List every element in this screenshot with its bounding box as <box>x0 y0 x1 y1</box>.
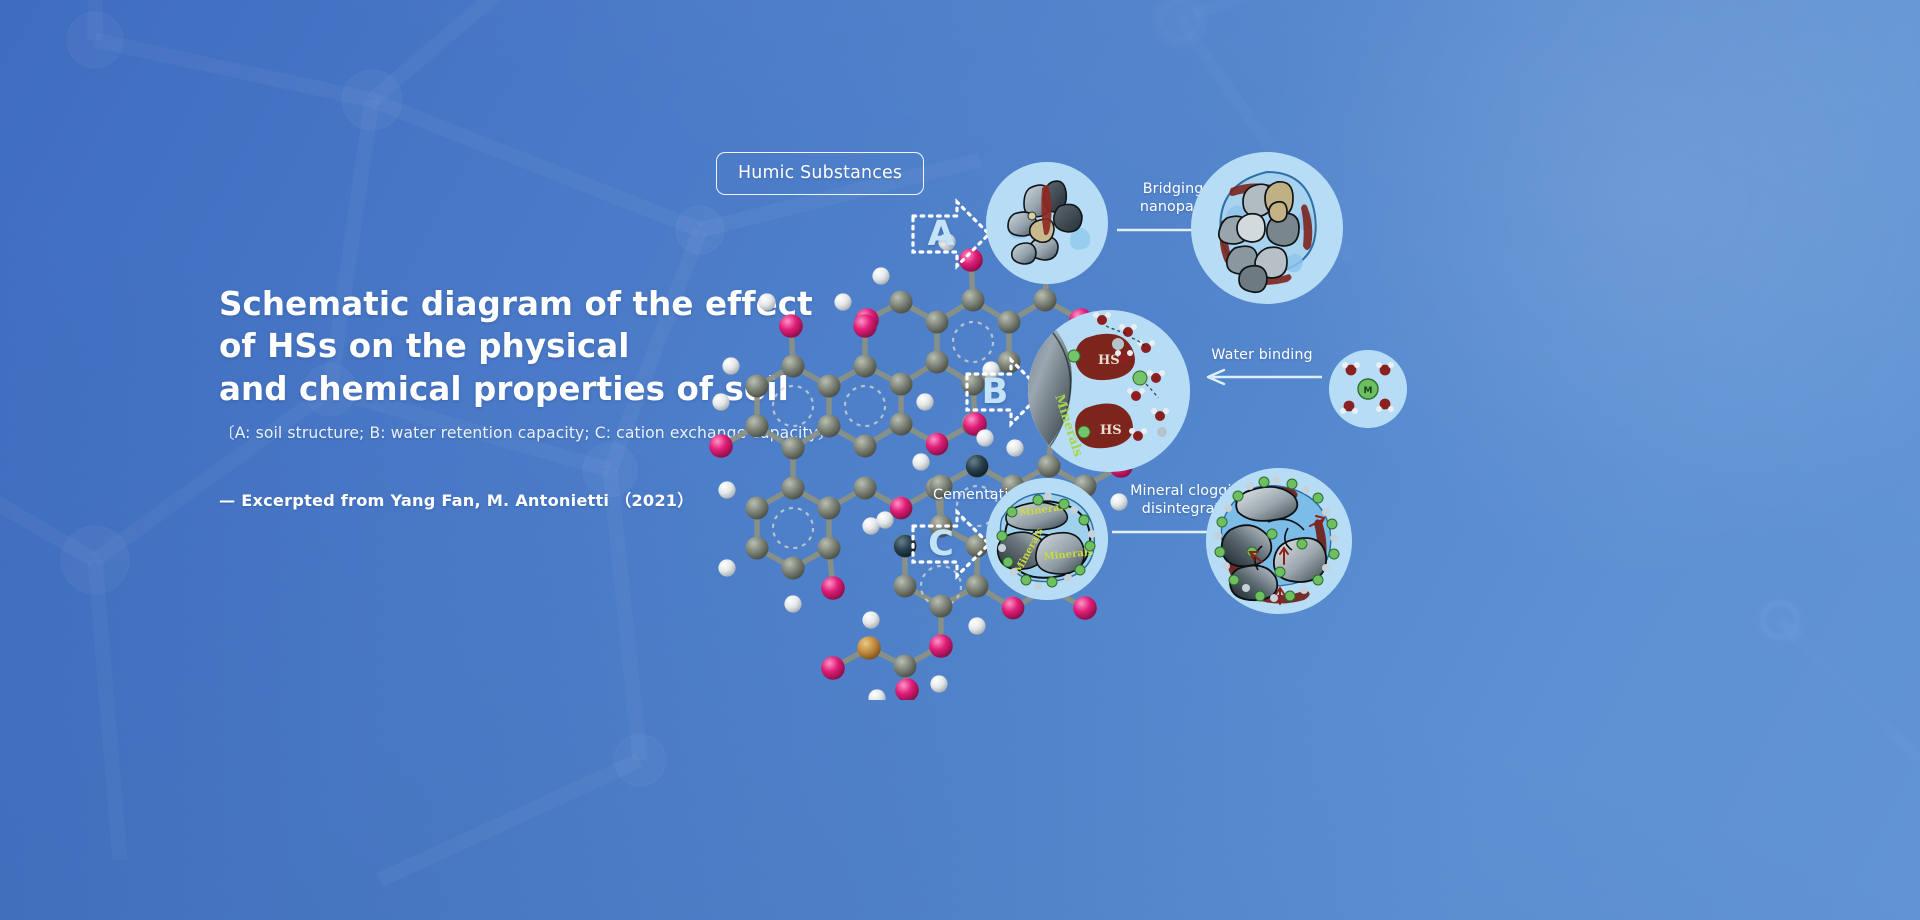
step-letter-b: B <box>969 354 1021 430</box>
step-letter-a: A <box>915 196 967 272</box>
step-letter-c: C <box>915 506 967 582</box>
cation-label: M <box>1364 386 1373 396</box>
bubble-soil-aggregate-bridged <box>1191 152 1343 304</box>
hs-label-2: HS <box>1100 423 1122 438</box>
step-arrow-c: C <box>909 506 993 582</box>
flow-b: Water binding <box>1200 346 1324 390</box>
step-arrow-a: A <box>909 196 993 272</box>
bubble-hs-mineral-water: Minerals HS HS <box>1028 310 1190 472</box>
humic-substances-badge: Humic Substances <box>716 152 924 195</box>
bubble-mineral-cemented: Minerals Minerals Minerals <box>986 478 1108 600</box>
bubble-soil-aggregate-loose <box>986 162 1108 284</box>
bubble-hydrated-cation: M <box>1329 350 1407 428</box>
poster-canvas: Schematic diagram of the effect of HSs o… <box>0 0 1920 920</box>
schematic-figure: Humic Substances <box>690 110 1920 810</box>
flow-arrow-b-left <box>1200 368 1324 390</box>
flow-label-b: Water binding <box>1200 346 1324 364</box>
bubble-mineral-disintegrated <box>1206 468 1352 614</box>
